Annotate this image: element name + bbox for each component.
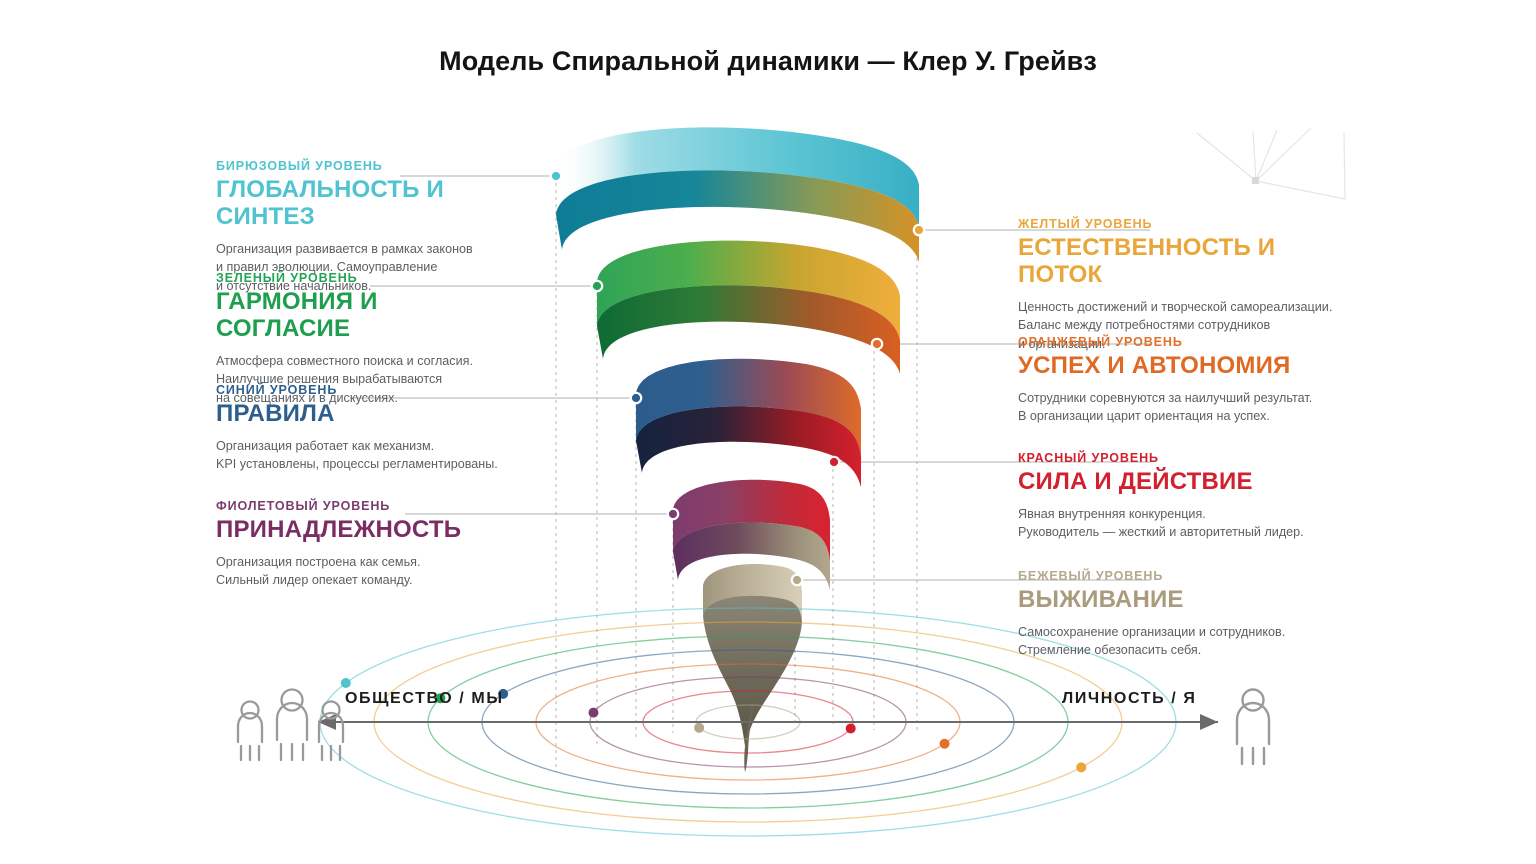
decorative-network-icon (1197, 128, 1345, 199)
level-body: Сотрудники соревнуются за наилучший резу… (1018, 389, 1348, 426)
level-kicker: ЖЕЛТЫЙ УРОВЕНЬ (1018, 218, 1348, 232)
level-headline: ПРИНАДЛЕЖНОСТЬ (216, 517, 516, 544)
level-block-orange: ОРАНЖЕВЫЙ УРОВЕНЬ УСПЕХ И АВТОНОМИЯ Сотр… (1018, 336, 1348, 426)
level-body: Организация построена как семья. Сильный… (216, 553, 516, 590)
level-block-violet: ФИОЛЕТОВЫЙ УРОВЕНЬ ПРИНАДЛЕЖНОСТЬ Органи… (216, 500, 516, 590)
base-dot-beige (694, 723, 704, 733)
level-body: Явная внутренняя конкуренция. Руководите… (1018, 505, 1348, 542)
level-kicker: КРАСНЫЙ УРОВЕНЬ (1018, 452, 1348, 466)
spiral-ribbon (556, 127, 919, 772)
base-dot-red (846, 723, 856, 733)
node-yellow (914, 225, 924, 235)
level-headline: ГЛОБАЛЬНОСТЬ И СИНТЕЗ (216, 177, 516, 231)
level-headline: СИЛА И ДЕЙСТВИЕ (1018, 469, 1348, 496)
level-kicker: ЗЕЛЕНЫЙ УРОВЕНЬ (216, 272, 516, 286)
level-kicker: СИНИЙ УРОВЕНЬ (216, 384, 516, 398)
base-dot-turquoise (341, 678, 351, 688)
axis-arrow (318, 714, 1218, 730)
ribbon-segment-tail (703, 596, 802, 746)
level-block-blue: СИНИЙ УРОВЕНЬ ПРАВИЛА Организация работа… (216, 384, 516, 474)
base-dot-orange (940, 739, 950, 749)
node-green (592, 281, 602, 291)
base-dot-yellow (1076, 762, 1086, 772)
level-block-red: КРАСНЫЙ УРОВЕНЬ СИЛА И ДЕЙСТВИЕ Явная вн… (1018, 452, 1348, 542)
level-body: Самосохранение организации и сотрудников… (1018, 623, 1348, 660)
level-kicker: БИРЮЗОВЫЙ УРОВЕНЬ (216, 160, 516, 174)
node-blue (631, 393, 641, 403)
node-beige (792, 575, 802, 585)
level-headline: ВЫЖИВАНИЕ (1018, 587, 1348, 614)
level-body: Организация работает как механизм. KPI у… (216, 437, 516, 474)
axis-label-individual: ЛИЧНОСТЬ / Я (1062, 690, 1196, 708)
level-kicker: ОРАНЖЕВЫЙ УРОВЕНЬ (1018, 336, 1348, 350)
level-kicker: ФИОЛЕТОВЫЙ УРОВЕНЬ (216, 500, 516, 514)
base-dot-violet (588, 708, 598, 718)
level-block-beige: БЕЖЕВЫЙ УРОВЕНЬ ВЫЖИВАНИЕ Самосохранение… (1018, 570, 1348, 660)
level-headline: ЕСТЕСТВЕННОСТЬ И ПОТОК (1018, 235, 1348, 289)
node-turquoise (551, 171, 561, 181)
axis-label-society: ОБЩЕСТВО / МЫ (345, 690, 504, 708)
node-orange (872, 339, 882, 349)
single-person-icon (1237, 690, 1269, 765)
level-headline: УСПЕХ И АВТОНОМИЯ (1018, 353, 1348, 380)
level-block-yellow: ЖЕЛТЫЙ УРОВЕНЬ ЕСТЕСТВЕННОСТЬ И ПОТОК Це… (1018, 218, 1348, 353)
level-headline: ПРАВИЛА (216, 401, 516, 428)
node-violet (668, 509, 678, 519)
level-kicker: БЕЖЕВЫЙ УРОВЕНЬ (1018, 570, 1348, 584)
ribbon-segment-darkblue-underside (636, 407, 861, 487)
node-red (829, 457, 839, 467)
level-headline: ГАРМОНИЯ И СОГЛАСИЕ (216, 289, 516, 343)
